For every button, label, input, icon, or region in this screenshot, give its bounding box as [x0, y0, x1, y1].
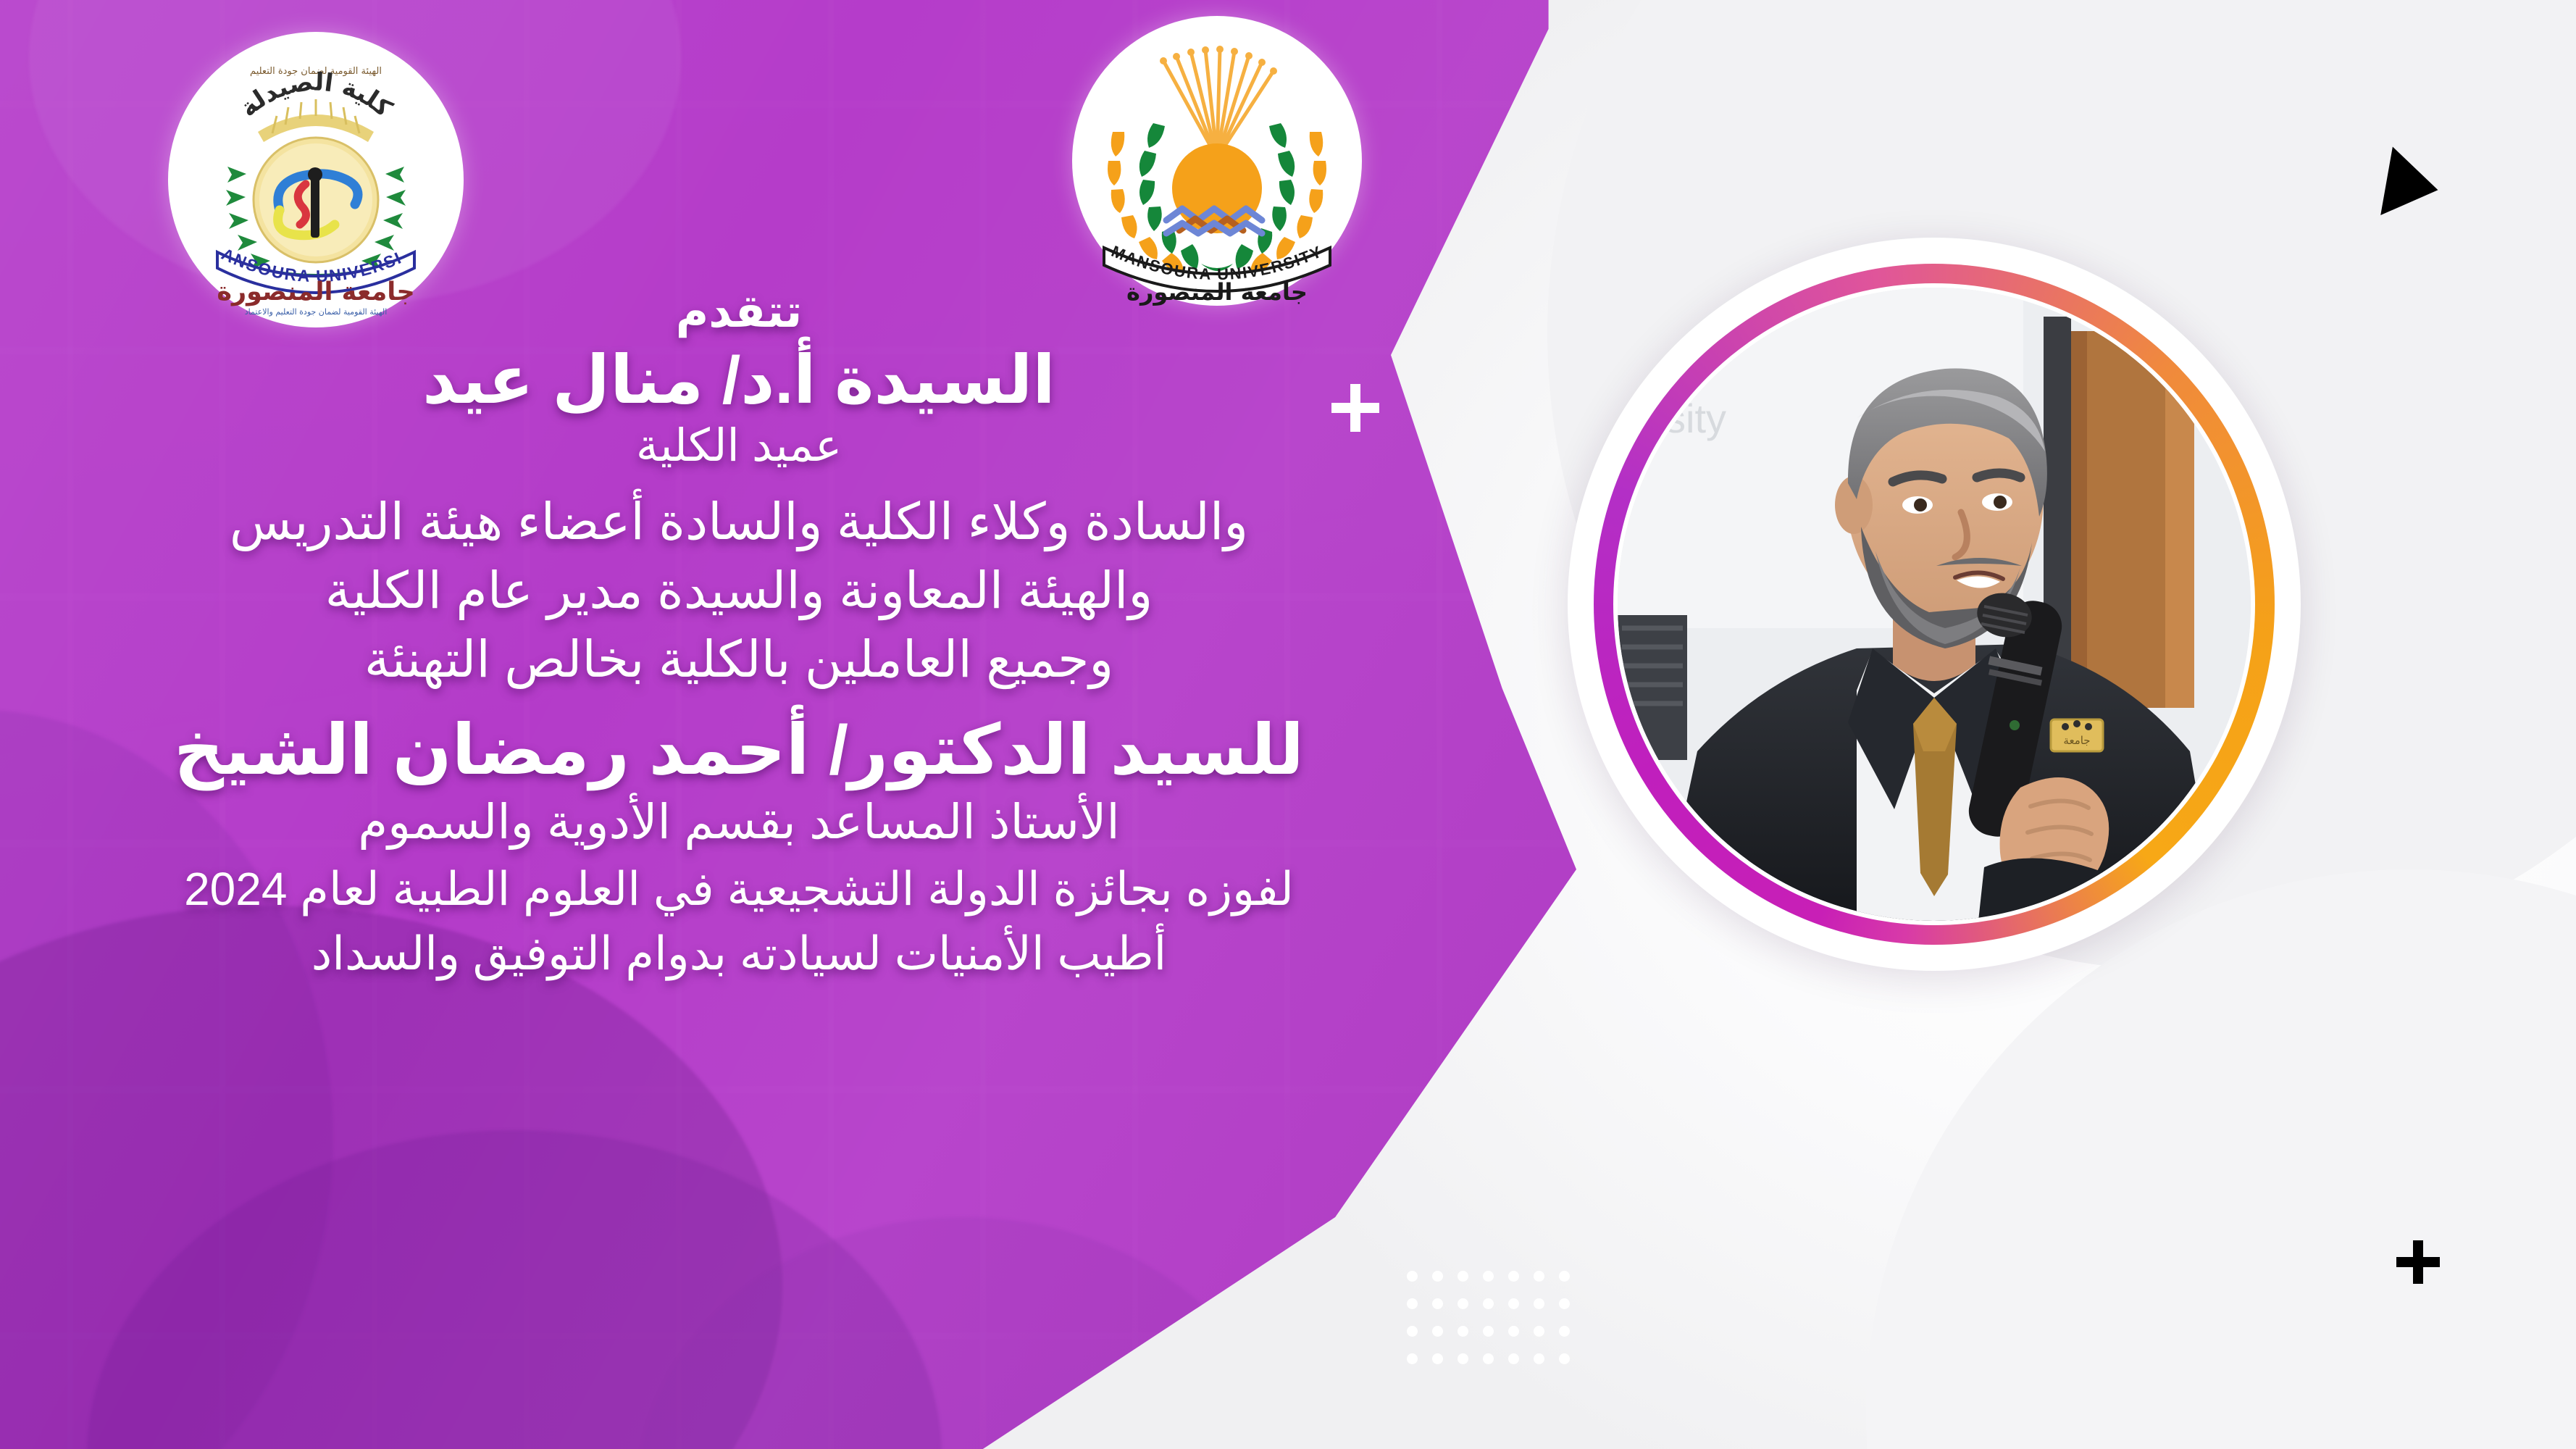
honoree-title: الأستاذ المساعد بقسم الأدوية والسموم	[0, 796, 1492, 848]
dot-grid-decoration	[1392, 1271, 1570, 1381]
body-line-2: والهيئة المعاونة والسيدة مدير عام الكلية	[0, 558, 1492, 624]
portrait-illustration: versity	[1618, 288, 2251, 921]
svg-text:جامعة: جامعة	[2063, 734, 2090, 747]
honoree-name: للسيد الدكتور/ أحمد رمضان الشيخ	[0, 711, 1492, 790]
faculty-of-pharmacy-logo: الهيئة القومية لضمان جودة التعليم كلية ا…	[168, 32, 464, 327]
portrait-gradient-ring: versity	[1594, 264, 2275, 945]
portrait-frame: versity	[1568, 238, 2301, 971]
avatar: versity	[1618, 288, 2251, 921]
pharmacy-logo-icon: الهيئة القومية لضمان جودة التعليم كلية ا…	[171, 35, 461, 325]
award-line: لفوزه بجائزة الدولة التشجيعية في العلوم …	[0, 861, 1492, 917]
mansoura-university-logo: MANSOURA UNIVERSITY جامعة المنصورة	[1072, 16, 1362, 306]
message-text-block: تتقدم السيدة أ.د/ منال عيد عميد الكلية و…	[0, 290, 1492, 982]
wishes-line: أطيب الأمنيات لسيادته بدوام التوفيق والس…	[0, 925, 1492, 982]
dean-name: السيدة أ.د/ منال عيد	[0, 345, 1492, 417]
svg-text:versity: versity	[1618, 396, 1726, 441]
portrait-inner-gap: versity	[1613, 283, 2255, 925]
plus-icon	[2396, 1240, 2440, 1284]
university-logo-icon: MANSOURA UNIVERSITY جامعة المنصورة	[1072, 16, 1362, 306]
body-line-3: وجميع العاملين بالكلية بخالص التهنئة	[0, 627, 1492, 693]
body-line-1: والسادة وكلاء الكلية والسادة أعضاء هيئة …	[0, 489, 1492, 555]
congratulation-poster: الهيئة القومية لضمان جودة التعليم كلية ا…	[0, 0, 2576, 1449]
intro-line: تتقدم	[0, 290, 1492, 335]
dean-title: عميد الكلية	[0, 424, 1492, 469]
